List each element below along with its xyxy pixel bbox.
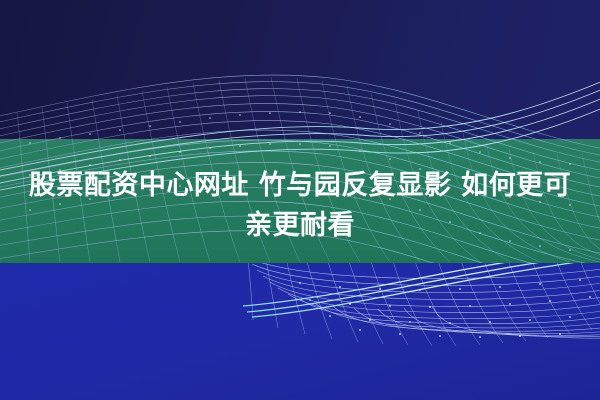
dark-navy-band bbox=[0, 0, 600, 139]
royal-blue-band bbox=[0, 263, 600, 400]
image-canvas: 股票配资中心网址 竹与园反复显影 如何更可亲更耐看 bbox=[0, 0, 600, 400]
headline-text: 股票配资中心网址 竹与园反复显影 如何更可亲更耐看 bbox=[22, 166, 578, 246]
